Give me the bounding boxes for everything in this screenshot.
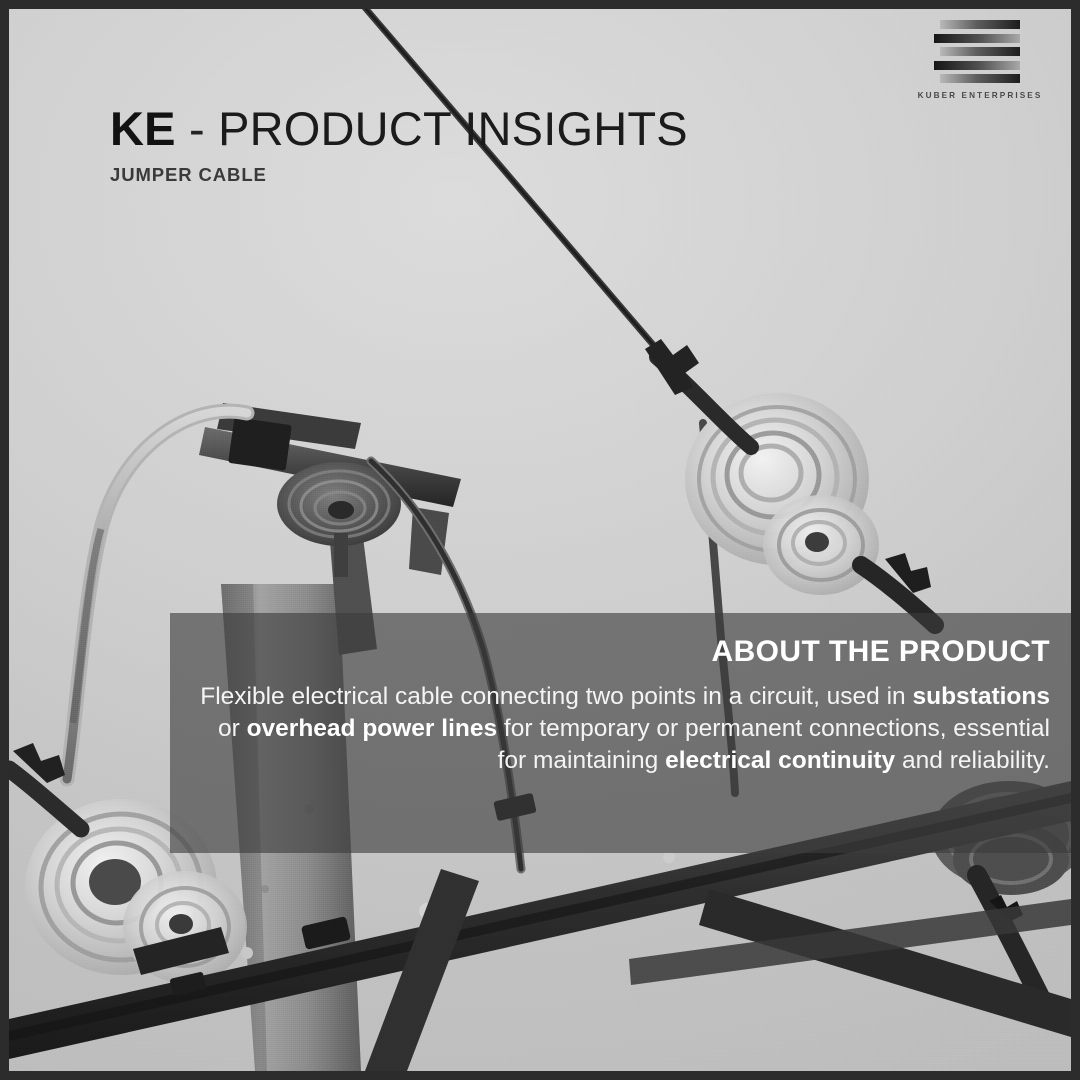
about-text-2: or [218, 715, 247, 742]
about-highlight-substations: substations [913, 683, 1051, 710]
poster-header: KE - PRODUCT INSIGHTS JUMPER CABLE [110, 104, 688, 186]
about-text-1: Flexible electrical cable connecting two… [200, 683, 912, 710]
about-highlight-overhead-power-lines: overhead power lines [247, 715, 498, 742]
title-rest: PRODUCT INSIGHTS [218, 102, 688, 155]
brand-logo-name: KUBER ENTERPRISES [916, 91, 1044, 100]
disc-insulator-center-left-icon [277, 462, 401, 577]
stacked-bars-logo-icon [940, 20, 1020, 83]
brand-logo: KUBER ENTERPRISES [916, 20, 1044, 100]
title-dash: - [176, 102, 218, 155]
poster-frame: KE - PRODUCT INSIGHTS JUMPER CABLE KUBER… [0, 0, 1080, 1080]
about-heading: ABOUT THE PRODUCT [196, 635, 1050, 668]
page-subtitle: JUMPER CABLE [110, 164, 688, 186]
about-highlight-electrical-continuity: electrical continuity [665, 747, 895, 774]
about-body: Flexible electrical cable connecting two… [196, 681, 1050, 777]
poster-canvas: KE - PRODUCT INSIGHTS JUMPER CABLE KUBER… [9, 9, 1071, 1071]
page-title: KE - PRODUCT INSIGHTS [110, 104, 688, 155]
about-the-product-panel: ABOUT THE PRODUCT Flexible electrical ca… [170, 613, 1071, 853]
disc-insulator-top-right-icon [645, 339, 935, 625]
title-brand-initials: KE [110, 102, 176, 155]
about-text-4: and reliability. [895, 747, 1050, 774]
